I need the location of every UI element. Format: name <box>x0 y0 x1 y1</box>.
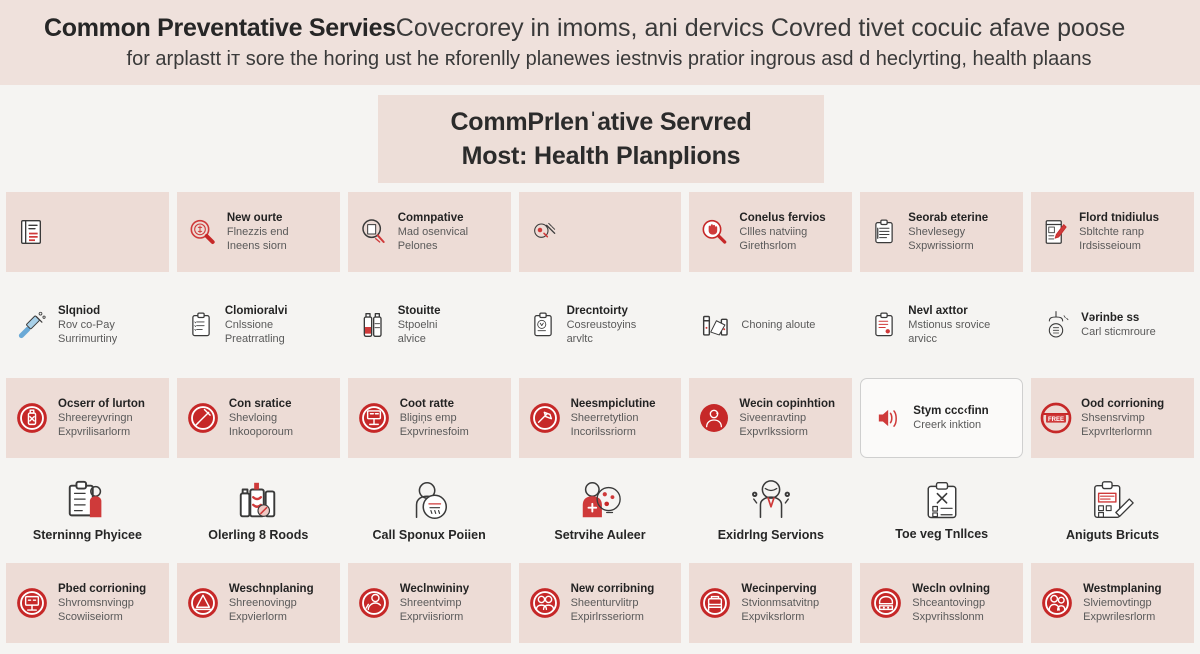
service-card-text: DrecntoirtyCosreustoyinsarvltc <box>567 304 637 347</box>
service-card-text: Flord tnidiulusSbltchte ranpIrdsisseioum <box>1079 211 1159 254</box>
service-card-title: Ood corrioning <box>1081 397 1164 411</box>
service-card-subtitle-2: Exprviisriorm <box>400 610 469 625</box>
service-card-subtitle-2: Scowiiseiorm <box>58 610 146 625</box>
svg-text:FREE: FREE <box>1048 417 1064 423</box>
service-card-subtitle-2: Pelones <box>398 239 468 254</box>
card-row: Pbed corrioningShvromsnvingpScowiiseiorm… <box>0 563 1200 643</box>
test-tubes-paper-icon <box>698 308 732 342</box>
bottles-group-icon <box>235 478 281 524</box>
service-card[interactable]: WeschnplaningShreenovingpExpvierlorm <box>177 563 340 643</box>
service-card-subtitle-1: Stpoelni <box>398 318 441 333</box>
service-card-title: Ocserr of lurton <box>58 397 145 411</box>
service-card-subtitle-2: alvice <box>398 332 441 347</box>
service-card[interactable]: WecinpervingStvionmsatvitnpExpviksrlorm <box>689 563 852 643</box>
service-card-title: Weschnplaning <box>229 582 314 596</box>
section-banner: CommPrIenˈative Servred Most: Health Pla… <box>378 95 824 183</box>
service-card-text: StouitteStpoelnialvice <box>398 304 441 347</box>
prohibited-bed-icon <box>698 586 732 620</box>
card-row: Ocserr of lurtonShreereyvringnExpvrilisa… <box>0 378 1200 458</box>
service-card[interactable]: Setrvihe Auleer <box>519 466 682 558</box>
service-card-text: Sterninng Phyicee <box>33 528 142 543</box>
service-card-title: Seorab eterine <box>908 211 988 225</box>
service-card-subtitle-2: Expvierlorm <box>229 610 314 625</box>
service-card-subtitle-2: Expwrilesrlorm <box>1083 610 1161 625</box>
clipboard-red-lines-icon <box>869 310 899 340</box>
service-card-title: Slqniod <box>58 304 117 318</box>
service-card-title: Westmplaning <box>1083 582 1161 596</box>
service-card-subtitle-2: Expvrinesfoim <box>400 425 469 440</box>
person-circle-icon <box>698 402 730 434</box>
service-card[interactable]: Con sraticeShevloingInkooporoum <box>177 378 340 458</box>
clipboard-checklist-icon <box>186 310 216 340</box>
prohibited-scale2-icon <box>15 586 49 620</box>
service-card[interactable]: Pbed corrioningShvromsnvingpScowiiseiorm <box>6 563 169 643</box>
service-card-text: New ourteFlnezzis endIneens siorn <box>227 211 289 254</box>
service-card[interactable]: WestmplaningSlviemovtingpExpwrilesrlorm <box>1031 563 1194 643</box>
service-card-title: Con sratice <box>229 397 293 411</box>
card-row: Sterninng PhyiceeOlerling 8 RoodsCall Sp… <box>0 466 1200 558</box>
service-card-text: Seorab eterineShevlesegySxpwrissiorm <box>908 211 988 254</box>
person-bubble-icon <box>406 478 452 524</box>
service-card[interactable] <box>519 192 682 272</box>
service-card-title: New corribning <box>571 582 655 596</box>
service-card-subtitle-2: Ineens siorn <box>227 239 289 254</box>
page-title-bold: Common Preventative Servies <box>44 14 396 42</box>
service-card-text: Nevl axttorMstionus srovicearvicc <box>908 304 990 347</box>
service-card-title: Stym ccс‹finn <box>913 404 988 418</box>
speaker-sound-icon <box>870 404 904 432</box>
service-card-subtitle-2: Surrimurtiny <box>58 332 117 347</box>
service-card-text: Exidrlng Servions <box>718 528 824 543</box>
page-title: Common Preventative ServiesCovecrorey in… <box>44 12 1156 44</box>
service-card-text: Coot ratteBligiņs empExpvrinesfoim <box>400 397 469 440</box>
service-card[interactable]: FREEOod corrioningShsensrvimpExpvrlterlo… <box>1031 378 1194 458</box>
service-card[interactable]: Choning aloute <box>689 280 852 370</box>
service-card-label: Aniguts Bricuts <box>1066 528 1159 543</box>
service-card[interactable]: DrecntoirtyCosreustoyinsarvltc <box>519 280 682 370</box>
service-card-title: Conelus fervios <box>739 211 825 225</box>
service-card-subtitle-1: Flnezzis end <box>227 225 289 240</box>
service-card[interactable]: Stym ccс‹finnCreerk inktion <box>860 378 1023 458</box>
service-card-subtitle-1: Creerk inktion <box>913 418 988 433</box>
page-header: Common Preventative ServiesCovecrorey in… <box>0 0 1200 85</box>
service-card-title: Weclnwininy <box>400 582 469 596</box>
service-card-text: Conelus ferviosCllles natviingGirethsrlo… <box>739 211 825 254</box>
service-card-subtitle-1: Cnlssione <box>225 318 288 333</box>
prohibited-cone-icon <box>186 586 220 620</box>
service-card[interactable]: Olerling 8 Roods <box>177 466 340 558</box>
page-title-rest: Covecrorey in imoms, ani dervics Covred … <box>396 14 1125 42</box>
prohibited-bottle-icon <box>15 401 49 435</box>
service-card-title: New ourte <box>227 211 289 225</box>
service-card-text: ClomioralviCnlssionePreatrratling <box>225 304 288 347</box>
service-card-text: Pbed corrioningShvromsnvingpScowiiseiorm <box>58 582 146 625</box>
service-card[interactable]: Coot ratteBligiņs empExpvrinesfoim <box>348 378 511 458</box>
free-badge-icon: FREE <box>1040 402 1072 434</box>
syringe-blood-icon <box>528 216 560 248</box>
service-card-label: Sterninng Phyicee <box>33 528 142 543</box>
service-card-subtitle-1: Cllles natviing <box>739 225 825 240</box>
service-card-subtitle-1: Stvionmsatvitnp <box>741 596 819 611</box>
service-card-label: Call Sponux Poiien <box>373 528 486 543</box>
service-card[interactable]: NeesmpiclutineSheerretytlionIncorilssrio… <box>519 378 682 458</box>
service-card[interactable]: Toe veg Tnllces <box>860 466 1023 558</box>
service-card-text: Aniguts Bricuts <box>1066 528 1159 543</box>
service-card-subtitle-2: Girethsrlom <box>739 239 825 254</box>
service-card-subtitle-2: Irdsisseioum <box>1079 239 1159 254</box>
service-card-subtitle-1: Shreentvimp <box>400 596 469 611</box>
prohibited-baby-icon <box>357 586 391 620</box>
service-card-text: Toe veg Tnllces <box>895 527 988 542</box>
service-card-subtitle-2: Inkooporoum <box>229 425 293 440</box>
preventative-services-infographic: Common Preventative ServiesCovecrorey in… <box>0 0 1200 654</box>
service-card-title: Wecinperving <box>741 582 819 596</box>
prohibited-people-icon <box>528 586 562 620</box>
service-card[interactable]: New ourteFlnezzis endIneens siorn <box>177 192 340 272</box>
service-card-text: NeesmpiclutineSheerretytlionIncorilssrio… <box>571 397 656 440</box>
service-card-text: Setrvihe Auleer <box>554 528 645 543</box>
service-card-subtitle-1: Slviemovtingp <box>1083 596 1161 611</box>
service-card-subtitle-1: Sheerretytlion <box>571 411 656 426</box>
service-card[interactable]: Sterninng Phyicee <box>6 466 169 558</box>
person-cells-icon <box>577 478 623 524</box>
service-card-text: Choning aloute <box>741 318 815 333</box>
service-card[interactable]: Flord tnidiulusSbltchte ranpIrdsisseioum <box>1031 192 1194 272</box>
service-card-subtitle-1: Carl sticmroure <box>1081 325 1156 340</box>
syringe-blue-icon <box>15 308 49 342</box>
service-card-title: Nevl axttor <box>908 304 990 318</box>
service-card[interactable]: Seorab eterineShevlesegySxpwrissiorm <box>860 192 1023 272</box>
service-card-subtitle-2: Expviksrlorm <box>741 610 819 625</box>
service-card-title: Wecln ovlning <box>912 582 990 596</box>
service-card-text: Olerling 8 Roods <box>208 528 308 543</box>
service-card-text: Wecin copinhtionSiveenravtinpExpvrlkssio… <box>739 397 835 440</box>
service-card-subtitle-2: Expvrilisarlorm <box>58 425 145 440</box>
card-row: New ourteFlnezzis endIneens siornComnpat… <box>0 192 1200 272</box>
two-bottles-icon <box>357 309 389 341</box>
lamp-bulb-icon <box>1040 309 1072 341</box>
service-card-subtitle-1: Shreenovingp <box>229 596 314 611</box>
service-card-subtitle-1: Mstionus srovice <box>908 318 990 333</box>
service-card-subtitle-2: Sxpwrissiorm <box>908 239 988 254</box>
service-card-title: Pbed corrioning <box>58 582 146 596</box>
service-card-title: Drecntoirty <box>567 304 637 318</box>
service-card[interactable]: Ocserr of lurtonShreereyvringnExpvrilisa… <box>6 378 169 458</box>
service-card-subtitle-2: Incorilssriorm <box>571 425 656 440</box>
clipboard-person-icon <box>64 478 110 524</box>
service-card[interactable]: StouitteStpoelnialvice <box>348 280 511 370</box>
service-card-subtitle-1: Shreereyvringn <box>58 411 145 426</box>
service-card-text: ComnpativeMad osenvicalPelones <box>398 211 468 254</box>
service-card-subtitle-1: Siveenravtinp <box>739 411 835 426</box>
service-card-title: Stouitte <box>398 304 441 318</box>
service-card-grid: New ourteFlnezzis endIneens siornComnpat… <box>0 192 1200 651</box>
service-card-subtitle-1: Shevlesegy <box>908 225 988 240</box>
service-card[interactable]: Nevl axttorMstionus srovicearvicc <box>860 280 1023 370</box>
service-card-text: Vərinbe ssCarl sticmroure <box>1081 311 1156 340</box>
service-card[interactable] <box>6 192 169 272</box>
prohibited-couple-icon <box>1040 586 1074 620</box>
service-card[interactable]: Conelus ferviosCllles natviingGirethsrlo… <box>689 192 852 272</box>
service-card-label: Olerling 8 Roods <box>208 528 308 543</box>
service-card-subtitle-2: Preatrratling <box>225 332 288 347</box>
service-card[interactable]: Aniguts Bricuts <box>1031 466 1194 558</box>
service-card-text: Ood corrioningShsensrvimpExpvrlterlormn <box>1081 397 1164 440</box>
prohibited-scale-icon <box>357 401 391 435</box>
service-card-title: Neesmpiclutine <box>571 397 656 411</box>
service-card[interactable]: SlqniodRov co-PaySurrimurtiny <box>6 280 169 370</box>
service-card-text: WeschnplaningShreenovingpExpvierlorm <box>229 582 314 625</box>
service-card-subtitle-1: Bligiņs emp <box>400 411 469 426</box>
clipboard-heart-icon <box>528 310 558 340</box>
service-card-subtitle-1: Shsensrvimp <box>1081 411 1164 426</box>
service-card-subtitle-2: arvicc <box>908 332 990 347</box>
banner-line-1: CommPrIenˈative Servred <box>450 105 751 139</box>
service-card-subtitle-1: Shevloing <box>229 411 293 426</box>
magnifier-document-icon <box>357 216 389 248</box>
service-card-text: New corribningSheenturvlitrpExpirlrsseri… <box>571 582 655 625</box>
service-card-subtitle-2: Expvrlterlormn <box>1081 425 1164 440</box>
service-card-title: Wecin copinhtion <box>739 397 835 411</box>
service-card-text: WeclnwininyShreentvimpExprviisriorm <box>400 582 469 625</box>
service-card-subtitle-2: arvltc <box>567 332 637 347</box>
service-card[interactable]: Wecln ovlningShceantovingpSxpvrihsslonm <box>860 563 1023 643</box>
service-card-title: Flord tnidiulus <box>1079 211 1159 225</box>
service-card-subtitle-1: Shvromsnvingp <box>58 596 146 611</box>
service-card-subtitle-1: Rov co-Pay <box>58 318 117 333</box>
service-card-subtitle-1: Choning aloute <box>741 318 815 333</box>
prohibited-hammer-icon <box>528 401 562 435</box>
service-card-label: Setrvihe Auleer <box>554 528 645 543</box>
service-card-text: Con sraticeShevloingInkooporoum <box>229 397 293 440</box>
service-card-subtitle-1: Shceantovingp <box>912 596 990 611</box>
service-card[interactable]: Call Sponux Poiien <box>348 466 511 558</box>
prohibited-syringe-icon <box>186 401 220 435</box>
magnifier-hand-icon <box>698 216 730 248</box>
service-card[interactable]: ClomioralviCnlssionePreatrratling <box>177 280 340 370</box>
clipboard-lines-icon <box>869 217 899 247</box>
page-subtitle: for arplastt iт sore the horing ust he ʀ… <box>44 44 1156 74</box>
service-card-subtitle-2: Expirlrsseriorm <box>571 610 655 625</box>
banner-line-2: Most: Health Planplions <box>462 139 741 173</box>
service-card-text: Wecln ovlningShceantovingpSxpvrihsslonm <box>912 582 990 625</box>
service-card-label: Toe veg Tnllces <box>895 527 988 542</box>
doctor-celebrate-icon <box>748 478 794 524</box>
magnifier-dollar-icon <box>186 216 218 248</box>
service-card-label: Exidrlng Servions <box>718 528 824 543</box>
service-card-text: Stym ccс‹finnCreerk inktion <box>913 404 988 433</box>
service-card-subtitle-1: Sheenturvlitrp <box>571 596 655 611</box>
service-card-title: Coot ratte <box>400 397 469 411</box>
service-card-text: WestmplaningSlviemovtingpExpwrilesrlorm <box>1083 582 1161 625</box>
service-card-subtitle-1: Cosreustoyins <box>567 318 637 333</box>
card-row: SlqniodRov co-PaySurrimurtinyClomioralvi… <box>0 280 1200 370</box>
service-card-text: SlqniodRov co-PaySurrimurtiny <box>58 304 117 347</box>
service-card[interactable]: Exidrlng Servions <box>689 466 852 558</box>
notebook-lined-icon <box>15 216 47 248</box>
service-card-subtitle-2: Expvrlkssiorm <box>739 425 835 440</box>
service-card-title: Comnpative <box>398 211 468 225</box>
service-card-subtitle-2: Sxpvrihsslonm <box>912 610 990 625</box>
service-card-text: Call Sponux Poiien <box>373 528 486 543</box>
service-card-subtitle-1: Mad osenvical <box>398 225 468 240</box>
service-card[interactable]: Vərinbe ssCarl sticmroure <box>1031 280 1194 370</box>
service-card-title: Clomioralvi <box>225 304 288 318</box>
service-card[interactable]: New corribningSheenturvlitrpExpirlrsseri… <box>519 563 682 643</box>
service-card[interactable]: WeclnwininyShreentvimpExprviisriorm <box>348 563 511 643</box>
service-card-title: Vərinbe ss <box>1081 311 1156 325</box>
service-card-text: Ocserr of lurtonShreereyvringnExpvrilisa… <box>58 397 145 440</box>
service-card[interactable]: Wecin copinhtionSiveenravtinpExpvrlkssio… <box>689 378 852 458</box>
service-card[interactable]: ComnpativeMad osenvicalPelones <box>348 192 511 272</box>
tablet-pencil-icon <box>1040 217 1070 247</box>
service-card-text: WecinpervingStvionmsatvitnpExpviksrlorm <box>741 582 819 625</box>
service-card-subtitle-1: Sbltchte ranp <box>1079 225 1159 240</box>
clipboard-edit-icon <box>1090 478 1136 524</box>
clipboard-cross-icon <box>920 479 964 523</box>
prohibited-chef-icon <box>869 586 903 620</box>
